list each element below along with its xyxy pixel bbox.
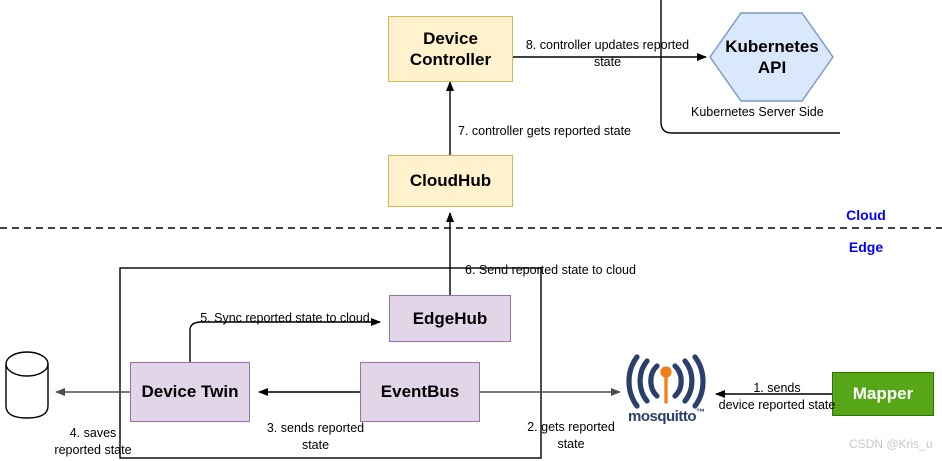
kubernetes-server-side-text: Kubernetes Server Side — [691, 105, 824, 119]
mosquitto-wordmark: mosquitto™ — [628, 407, 705, 425]
node-cloudhub[interactable]: CloudHub — [388, 155, 513, 207]
node-edgehub[interactable]: EdgeHub — [389, 295, 511, 342]
kubernetes-api-text: Kubernetes API — [725, 37, 819, 77]
node-device-twin-label: Device Twin — [142, 381, 239, 402]
mosquitto-icon — [629, 357, 703, 406]
node-kubernetes-api-label: Kubernetes API — [711, 36, 833, 79]
node-mapper[interactable]: Mapper — [832, 372, 934, 416]
mosquitto-trademark-text: ™ — [696, 407, 705, 417]
node-device-twin[interactable]: Device Twin — [130, 362, 250, 422]
edge-label-4-text: 4. saves reported state — [54, 426, 131, 457]
kubernetes-server-side-label: Kubernetes Server Side — [691, 105, 824, 119]
edge-label-6-text: 6. Send reported state to cloud — [465, 263, 636, 277]
node-device-controller-label: Device Controller — [389, 28, 512, 71]
node-device-controller[interactable]: Device Controller — [388, 16, 513, 82]
edge-label-3-text: 3. sends reported state — [267, 421, 364, 452]
edge-label-8: 8. controller updates reported state — [515, 20, 700, 71]
zone-label-cloud-text: Cloud — [846, 207, 886, 223]
zone-label-cloud: Cloud — [830, 207, 902, 223]
edge-label-5-text: 5. Sync reported state to cloud — [200, 311, 370, 325]
edge-5-arrow — [190, 322, 380, 362]
edge-label-1-text: 1. sends device reported state — [719, 381, 836, 412]
edge-label-4: 4. saves reported state — [43, 408, 143, 459]
edge-label-3: 3. sends reported state — [248, 403, 383, 454]
node-eventbus-label: EventBus — [381, 381, 459, 402]
mosquitto-wordmark-text: mosquitto — [628, 408, 696, 425]
edge-label-8-text: 8. controller updates reported state — [526, 38, 689, 69]
edge-label-5: 5. Sync reported state to cloud — [170, 293, 400, 327]
edge-label-7: 7. controller gets reported state — [458, 106, 658, 140]
edge-label-2-text: 2. gets reported state — [527, 420, 615, 451]
node-cloudhub-label: CloudHub — [410, 170, 491, 191]
edge-label-1: 1. sends device reported state — [715, 363, 839, 414]
diagram-canvas: Device Controller Kubernetes API Kuberne… — [0, 0, 942, 461]
watermark: CSDN @Kris_u — [849, 437, 933, 451]
node-edgehub-label: EdgeHub — [413, 308, 488, 329]
edge-label-2: 2. gets reported state — [512, 402, 630, 453]
zone-label-edge: Edge — [830, 239, 902, 255]
edge-label-7-text: 7. controller gets reported state — [458, 124, 631, 138]
node-mapper-label: Mapper — [853, 383, 913, 404]
watermark-text: CSDN @Kris_u — [849, 437, 933, 451]
edge-label-6: 6. Send reported state to cloud — [465, 245, 685, 279]
database-cylinder — [6, 352, 48, 418]
zone-label-edge-text: Edge — [849, 239, 883, 255]
